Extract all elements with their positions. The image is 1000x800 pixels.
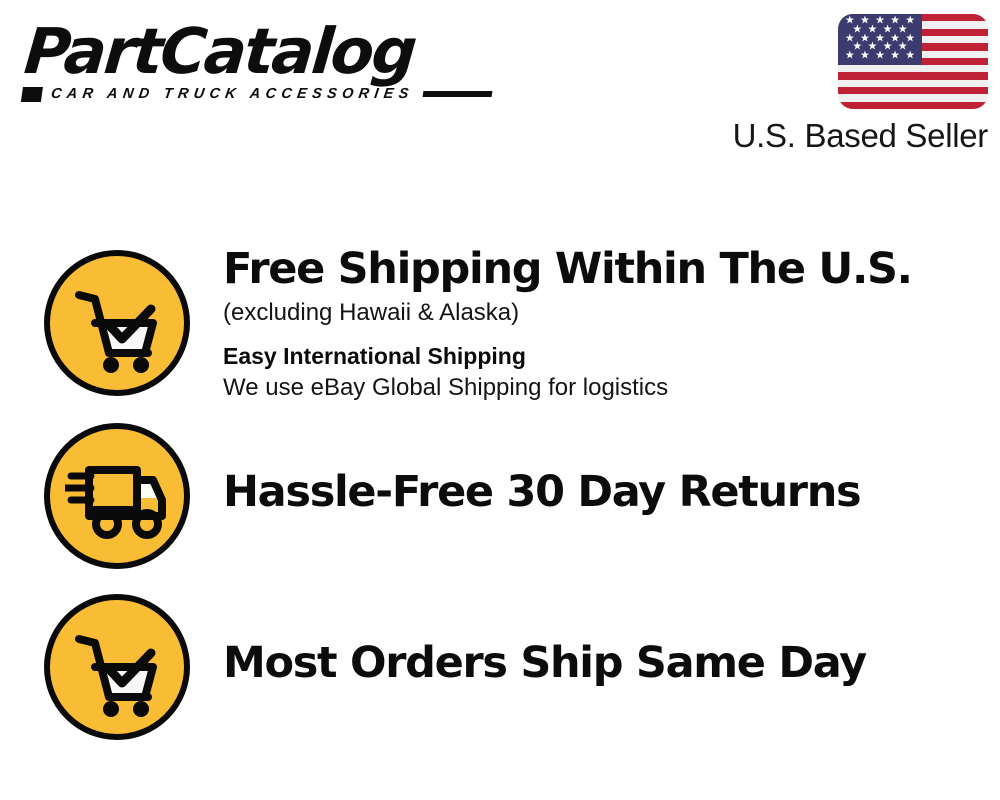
flag-stripe <box>838 65 988 72</box>
brand-tagline-row: CAR AND TRUCK ACCESSORIES <box>21 86 493 102</box>
seller-location-label: U.S. Based Seller <box>722 117 988 155</box>
flag-stripe <box>838 94 988 101</box>
flag-stripe <box>838 72 988 79</box>
feature-text-block: Most Orders Ship Same Day <box>223 590 963 686</box>
shopping-cart-check-icon <box>44 250 190 396</box>
tagline-left-bar-icon <box>21 87 43 102</box>
feature-title: Most Orders Ship Same Day <box>223 640 963 686</box>
brand-tagline: CAR AND TRUCK ACCESSORIES <box>50 86 415 102</box>
flag-stripe <box>838 87 988 94</box>
feature-subtitle-detail: We use eBay Global Shipping for logistic… <box>223 373 963 403</box>
shopping-cart-check-icon <box>44 594 190 740</box>
brand-logo: PartCatalog CAR AND TRUCK ACCESSORIES <box>22 20 492 102</box>
brand-wordmark: PartCatalog <box>22 20 498 83</box>
promo-banner: PartCatalog CAR AND TRUCK ACCESSORIES ★ … <box>0 0 1000 800</box>
flag-stripe <box>838 102 988 109</box>
flag-canton: ★ ★ ★ ★ ★ ★ ★ ★ ★ ★ ★ ★ ★ ★ ★ ★ ★ ★ ★ ★ … <box>838 14 922 65</box>
us-flag-icon: ★ ★ ★ ★ ★ ★ ★ ★ ★ ★ ★ ★ ★ ★ ★ ★ ★ ★ ★ ★ … <box>838 14 988 109</box>
flag-stripe <box>838 80 988 87</box>
feature-title: Hassle-Free 30 Day Returns <box>223 469 963 515</box>
tagline-right-bar-icon <box>422 91 492 97</box>
feature-text-block: Hassle-Free 30 Day Returns <box>223 419 963 515</box>
delivery-truck-icon <box>44 423 190 569</box>
feature-title: Free Shipping Within The U.S. <box>223 246 963 292</box>
feature-text-block: Free Shipping Within The U.S. (excluding… <box>223 246 963 403</box>
feature-subtitle: (excluding Hawaii & Alaska) <box>223 298 963 328</box>
feature-subtitle-strong: Easy International Shipping <box>223 342 963 371</box>
